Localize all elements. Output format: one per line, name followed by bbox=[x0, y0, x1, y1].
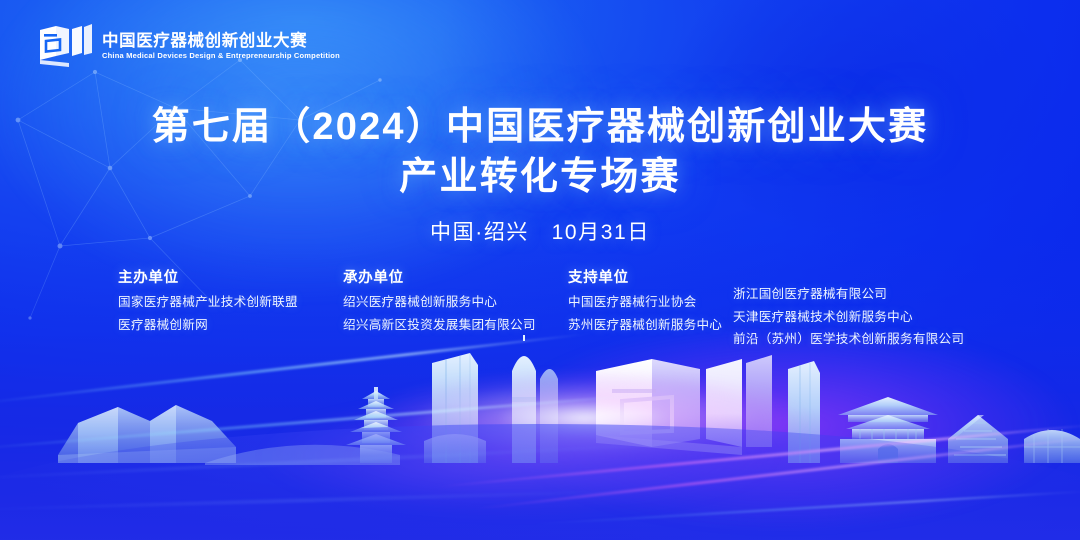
organizer-item: 国家医疗器械产业技术创新联盟 bbox=[118, 296, 298, 309]
logo-english-name: China Medical Devices Design & Entrepren… bbox=[102, 52, 340, 60]
organizer-section: 主办单位 国家医疗器械产业技术创新联盟 医疗器械创新网 承办单位 绍兴医疗器械创… bbox=[0, 266, 1080, 366]
organizer-column-host: 主办单位 国家医疗器械产业技术创新联盟 医疗器械创新网 bbox=[118, 266, 298, 341]
dome-arena bbox=[1024, 429, 1080, 463]
organizer-item: 天津医疗器械技术创新服务中心 bbox=[733, 311, 964, 324]
banner-subtitle-location-date: 中国·绍兴 10月31日 bbox=[0, 216, 1080, 246]
logo-chinese-name: 中国医疗器械创新创业大赛 bbox=[102, 32, 335, 50]
organizer-item: 绍兴高新区投资发展集团有限公司 bbox=[343, 319, 536, 332]
conference-banner: 中国医疗器械创新创业大赛 China Medical Devices Desig… bbox=[0, 0, 1080, 540]
organizer-column-supporter: 支持单位 中国医疗器械行业协会 苏州医疗器械创新服务中心 bbox=[568, 266, 722, 341]
organizer-item: 前沿（苏州）医学技术创新服务有限公司 bbox=[733, 333, 964, 346]
organizer-item: 中国医疗器械行业协会 bbox=[568, 296, 722, 309]
organizer-column-supporter-continued: 浙江国创医疗器械有限公司 天津医疗器械技术创新服务中心 前沿（苏州）医学技术创新… bbox=[733, 288, 964, 356]
title-line-2: 产业转化专场赛 bbox=[0, 154, 1080, 200]
organizer-heading: 主办单位 bbox=[118, 266, 298, 287]
organizer-item: 医疗器械创新网 bbox=[118, 319, 298, 332]
organizer-column-organizer: 承办单位 绍兴医疗器械创新服务中心 绍兴高新区投资发展集团有限公司 bbox=[343, 266, 536, 341]
organizer-item: 苏州医疗器械创新服务中心 bbox=[568, 319, 722, 332]
organizer-item: 绍兴医疗器械创新服务中心 bbox=[343, 296, 536, 309]
organizer-heading: 支持单位 bbox=[568, 266, 722, 287]
competition-logo: 中国医疗器械创新创业大赛 China Medical Devices Desig… bbox=[36, 22, 335, 70]
title-line-1: 第七届（2024）中国医疗器械创新创业大赛 bbox=[0, 104, 1080, 150]
organizer-item: 浙江国创医疗器械有限公司 bbox=[733, 288, 964, 301]
organizer-heading: 承办单位 bbox=[343, 266, 536, 287]
competition-open-book-logo-icon bbox=[36, 22, 92, 70]
banner-title: 第七届（2024）中国医疗器械创新创业大赛 产业转化专场赛 bbox=[0, 104, 1080, 201]
